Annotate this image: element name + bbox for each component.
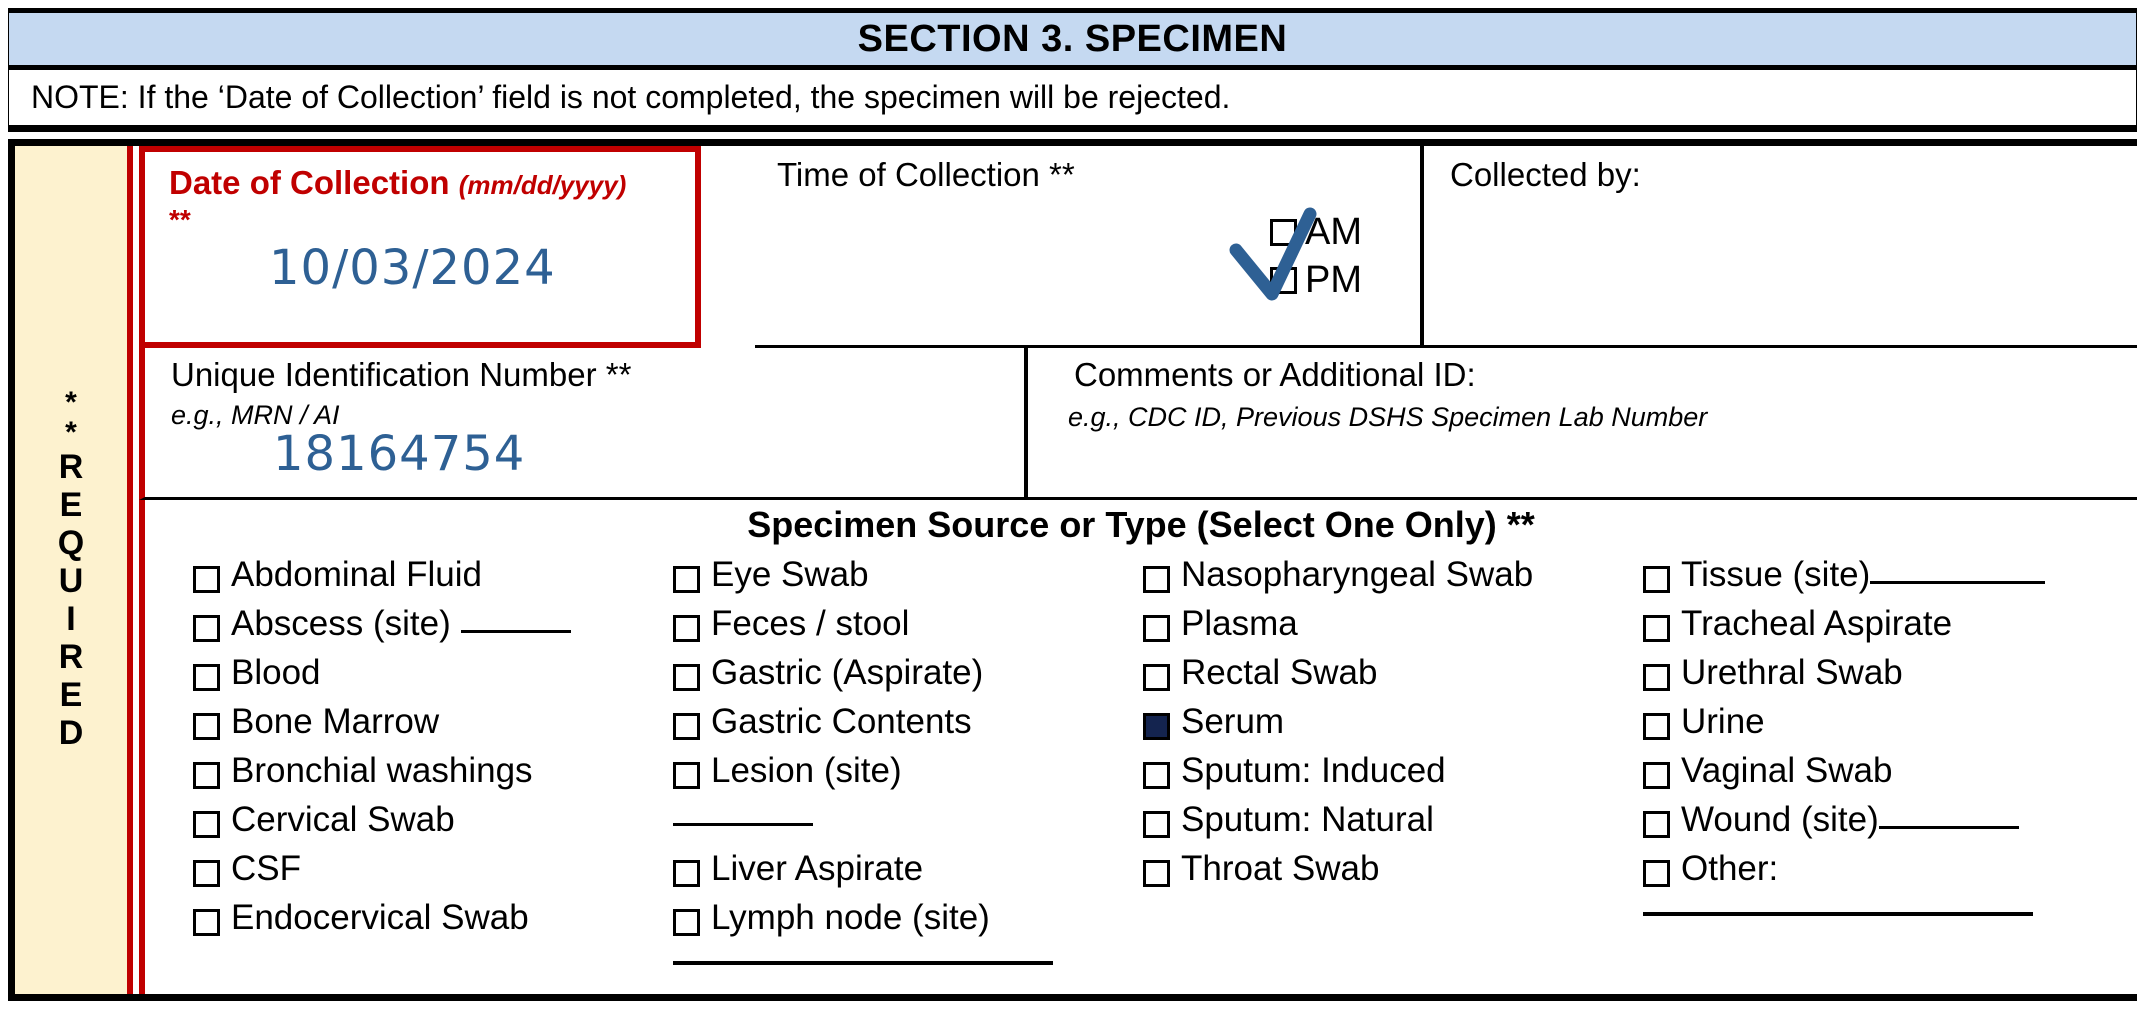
specimen-option[interactable]: Blood	[193, 653, 673, 702]
specimen-option[interactable]: Urethral Swab	[1643, 653, 2143, 702]
am-checkbox[interactable]	[1270, 219, 1297, 246]
specimen-option[interactable]: Lymph node (site)	[673, 898, 1143, 947]
specimen-option-label: Sputum: Natural	[1181, 800, 1434, 840]
specimen-option-label: Serum	[1181, 702, 1284, 742]
specimen-checkbox[interactable]	[1143, 860, 1170, 887]
specimen-option-label: Cervical Swab	[231, 800, 455, 840]
specimen-column-3: Nasopharyngeal SwabPlasmaRectal SwabSeru…	[1143, 555, 1643, 965]
specimen-checkbox[interactable]	[1643, 811, 1670, 838]
specimen-option[interactable]: Lesion (site)	[673, 751, 1143, 800]
specimen-option[interactable]: Plasma	[1143, 604, 1643, 653]
specimen-option-label: Urine	[1681, 702, 1765, 742]
specimen-option-label: Throat Swab	[1181, 849, 1379, 889]
specimen-checkbox[interactable]	[1643, 860, 1670, 887]
date-format-hint: (mm/dd/yyyy)	[459, 170, 627, 200]
specimen-option[interactable]: Abdominal Fluid	[193, 555, 673, 604]
specimen-write-in-rule[interactable]	[1643, 912, 2033, 916]
am-option[interactable]: AM	[1270, 208, 1362, 256]
specimen-option-label: Bronchial washings	[231, 751, 533, 791]
specimen-checkbox[interactable]	[1143, 566, 1170, 593]
specimen-option[interactable]: Sputum: Natural	[1143, 800, 1643, 849]
specimen-option-label: Vaginal Swab	[1681, 751, 1892, 791]
specimen-checkbox[interactable]	[1143, 762, 1170, 789]
specimen-option-label: Liver Aspirate	[711, 849, 923, 889]
specimen-checkbox[interactable]	[193, 860, 220, 887]
specimen-checkbox[interactable]	[1643, 713, 1670, 740]
unique-id-value[interactable]: 18164754	[273, 426, 525, 482]
comments-cell[interactable]: Comments or Additional ID: e.g., CDC ID,…	[1028, 348, 2137, 500]
specimen-checkbox[interactable]	[193, 811, 220, 838]
specimen-option[interactable]: Wound (site)	[1643, 800, 2143, 849]
pm-label: PM	[1305, 259, 1362, 302]
am-label: AM	[1305, 211, 1362, 254]
specimen-checkbox[interactable]	[673, 762, 700, 789]
required-letter-u: U	[59, 562, 84, 600]
specimen-checkbox[interactable]	[1143, 713, 1170, 740]
specimen-option[interactable]: Abscess (site)	[193, 604, 673, 653]
unique-id-cell[interactable]: Unique Identification Number ** e.g., MR…	[139, 348, 1028, 500]
specimen-checkbox[interactable]	[673, 664, 700, 691]
specimen-write-in-rule[interactable]	[673, 961, 1053, 965]
required-star-1: *	[65, 388, 77, 418]
specimen-checkbox[interactable]	[193, 566, 220, 593]
specimen-option-label: Feces / stool	[711, 604, 909, 644]
specimen-checkbox[interactable]	[193, 664, 220, 691]
specimen-option[interactable]: Serum	[1143, 702, 1643, 751]
collected-by-cell[interactable]: Collected by:	[1424, 146, 2137, 348]
specimen-option[interactable]: Nasopharyngeal Swab	[1143, 555, 1643, 604]
specimen-option[interactable]: Vaginal Swab	[1643, 751, 2143, 800]
specimen-column-4: Tissue (site)Tracheal AspirateUrethral S…	[1643, 555, 2143, 965]
specimen-option-label: Endocervical Swab	[231, 898, 529, 938]
specimen-option-label: Lesion (site)	[711, 751, 902, 791]
required-letter-e1: E	[60, 486, 83, 524]
specimen-checkbox[interactable]	[1643, 615, 1670, 642]
write-in-line[interactable]	[673, 823, 813, 826]
specimen-option-label: Bone Marrow	[231, 702, 439, 742]
specimen-source-columns: Abdominal FluidAbscess (site)BloodBone M…	[145, 555, 2137, 965]
specimen-option[interactable]: Tissue (site)	[1643, 555, 2143, 604]
date-required-marker: **	[169, 204, 191, 236]
specimen-option-label: Gastric (Aspirate)	[711, 653, 983, 693]
specimen-option-label: Abscess (site)	[231, 604, 571, 644]
specimen-option-label: Rectal Swab	[1181, 653, 1377, 693]
specimen-column-1: Abdominal FluidAbscess (site)BloodBone M…	[145, 555, 673, 965]
specimen-option-label: Nasopharyngeal Swab	[1181, 555, 1533, 595]
specimen-option-label: Lymph node (site)	[711, 898, 990, 938]
specimen-option[interactable]: CSF	[193, 849, 673, 898]
specimen-option[interactable]: Bone Marrow	[193, 702, 673, 751]
specimen-option[interactable]: Eye Swab	[673, 555, 1143, 604]
specimen-option-label: Blood	[231, 653, 321, 693]
specimen-source-cell: Specimen Source or Type (Select One Only…	[139, 500, 2137, 994]
specimen-option-label: Other:	[1681, 849, 1778, 889]
collected-by-label: Collected by:	[1450, 156, 1641, 194]
pm-checkbox[interactable]	[1270, 267, 1297, 294]
required-letter-d: D	[59, 714, 84, 752]
specimen-checkbox[interactable]	[673, 713, 700, 740]
unique-id-label: Unique Identification Number **	[171, 356, 631, 394]
specimen-column-2: Eye SwabFeces / stoolGastric (Aspirate)G…	[673, 555, 1143, 965]
specimen-write-in-rule	[673, 800, 1143, 849]
specimen-option-label: CSF	[231, 849, 301, 889]
specimen-checkbox[interactable]	[1643, 664, 1670, 691]
note-text: NOTE: If the ‘Date of Collection’ field …	[31, 79, 1230, 116]
date-of-collection-value[interactable]: 10/03/2024	[269, 240, 556, 296]
time-of-collection-label: Time of Collection **	[777, 156, 1075, 194]
required-letter-r1: R	[59, 448, 84, 486]
specimen-checkbox[interactable]	[673, 909, 700, 936]
required-star-2: *	[65, 418, 77, 448]
specimen-option[interactable]: Feces / stool	[673, 604, 1143, 653]
specimen-option[interactable]: Liver Aspirate	[673, 849, 1143, 898]
specimen-option[interactable]: Gastric (Aspirate)	[673, 653, 1143, 702]
specimen-option-label: Abdominal Fluid	[231, 555, 482, 595]
required-letter-e2: E	[60, 676, 83, 714]
specimen-checkbox[interactable]	[673, 860, 700, 887]
specimen-option-label: Wound (site)	[1681, 800, 2019, 840]
specimen-option-label: Tracheal Aspirate	[1681, 604, 1952, 644]
specimen-checkbox[interactable]	[1643, 566, 1670, 593]
required-letters: * * R E Q U I R E D	[58, 388, 84, 753]
specimen-checkbox[interactable]	[193, 762, 220, 789]
specimen-option[interactable]: Rectal Swab	[1143, 653, 1643, 702]
specimen-site-write-in[interactable]	[1870, 581, 2045, 584]
note-row: NOTE: If the ‘Date of Collection’ field …	[8, 70, 2137, 132]
specimen-option[interactable]: Cervical Swab	[193, 800, 673, 849]
specimen-option[interactable]: Endocervical Swab	[193, 898, 673, 947]
required-letter-i: I	[66, 600, 75, 638]
specimen-option[interactable]: Sputum: Induced	[1143, 751, 1643, 800]
specimen-source-title: Specimen Source or Type (Select One Only…	[145, 504, 2137, 546]
section-title: SECTION 3. SPECIMEN	[858, 18, 1288, 61]
section-header: SECTION 3. SPECIMEN	[8, 8, 2137, 70]
specimen-option[interactable]: Urine	[1643, 702, 2143, 751]
date-of-collection-cell[interactable]: Date of Collection (mm/dd/yyyy) ** 10/03…	[139, 146, 701, 348]
specimen-option-label: Eye Swab	[711, 555, 869, 595]
required-letter-r2: R	[59, 638, 84, 676]
specimen-option-label: Urethral Swab	[1681, 653, 1903, 693]
specimen-checkbox[interactable]	[193, 909, 220, 936]
specimen-option[interactable]: Other:	[1643, 849, 2143, 898]
required-letter-q: Q	[58, 524, 84, 562]
specimen-option[interactable]: Gastric Contents	[673, 702, 1143, 751]
specimen-option-label: Plasma	[1181, 604, 1298, 644]
specimen-option[interactable]: Throat Swab	[1143, 849, 1643, 898]
ampm-group: AM PM	[1270, 208, 1362, 304]
specimen-option-label: Sputum: Induced	[1181, 751, 1446, 791]
specimen-checkbox[interactable]	[193, 615, 220, 642]
required-sidebar: * * R E Q U I R E D	[15, 146, 133, 994]
specimen-form-page: SECTION 3. SPECIMEN NOTE: If the ‘Date o…	[0, 0, 2145, 1018]
comments-example: e.g., CDC ID, Previous DSHS Specimen Lab…	[1068, 402, 1707, 433]
specimen-site-write-in[interactable]	[1879, 826, 2019, 829]
time-of-collection-cell[interactable]: Time of Collection ** AM PM	[755, 146, 1424, 348]
specimen-checkbox[interactable]	[673, 615, 700, 642]
pm-option[interactable]: PM	[1270, 256, 1362, 304]
comments-label: Comments or Additional ID:	[1074, 356, 1476, 394]
specimen-checkbox[interactable]	[1643, 762, 1670, 789]
specimen-checkbox[interactable]	[1143, 615, 1170, 642]
date-of-collection-label: Date of Collection (mm/dd/yyyy)	[169, 164, 626, 202]
specimen-checkbox[interactable]	[1143, 664, 1170, 691]
specimen-option[interactable]: Tracheal Aspirate	[1643, 604, 2143, 653]
specimen-checkbox[interactable]	[673, 566, 700, 593]
date-of-collection-label-text: Date of Collection	[169, 164, 450, 201]
specimen-checkbox[interactable]	[1143, 811, 1170, 838]
specimen-option-label: Gastric Contents	[711, 702, 972, 742]
specimen-checkbox[interactable]	[193, 713, 220, 740]
specimen-site-write-in[interactable]	[461, 630, 571, 633]
specimen-option-label: Tissue (site)	[1681, 555, 2045, 595]
specimen-option[interactable]: Bronchial washings	[193, 751, 673, 800]
